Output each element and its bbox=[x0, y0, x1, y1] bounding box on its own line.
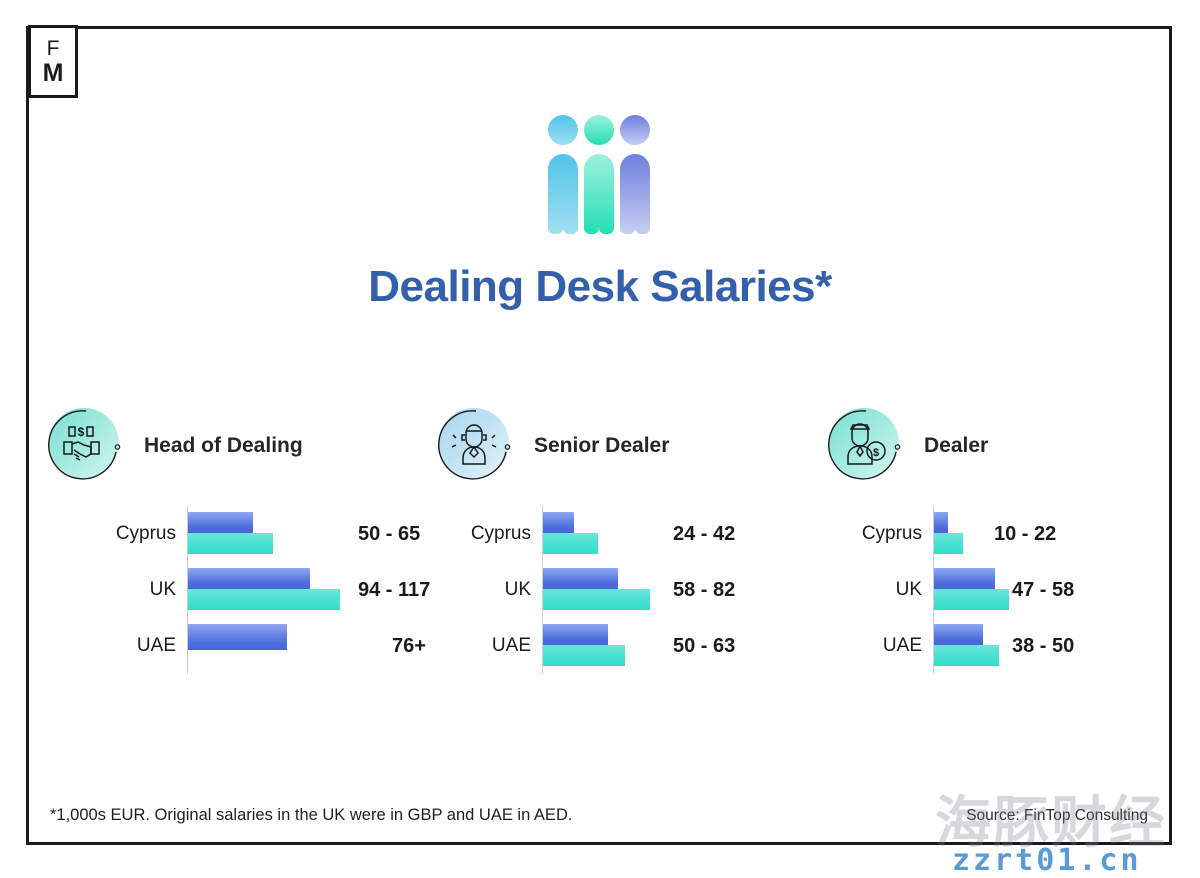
bar-chart-head-of-dealing: Cyprus 50 - 65 UK 94 - 117 UAE bbox=[46, 506, 436, 674]
row-bars bbox=[188, 512, 358, 556]
row-bars bbox=[188, 568, 358, 612]
row-label: UK bbox=[436, 579, 543, 601]
source-credit: Source: FinTop Consulting bbox=[966, 807, 1148, 825]
chart-row: UAE 50 - 63 bbox=[436, 618, 826, 674]
chart-row: UK 94 - 117 bbox=[46, 562, 436, 618]
svg-text:$: $ bbox=[873, 447, 879, 459]
bar-high bbox=[543, 645, 625, 666]
panel-head-of-dealing: $ Head of Dealing Cyprus 50 - 65 bbox=[46, 398, 436, 674]
logo-letter-m: M bbox=[43, 61, 64, 86]
bar-low bbox=[188, 512, 253, 533]
row-label: UAE bbox=[46, 635, 188, 657]
panel-header: $ Dealer bbox=[826, 398, 1154, 494]
row-range-label: 50 - 63 bbox=[673, 635, 735, 658]
bar-low bbox=[543, 624, 608, 645]
bar-low bbox=[543, 512, 574, 533]
row-label: UAE bbox=[436, 635, 543, 657]
chart-row: Cyprus 10 - 22 bbox=[826, 506, 1154, 562]
row-bars bbox=[543, 512, 673, 556]
bar-chart-senior-dealer: Cyprus 24 - 42 UK 58 - 82 UAE bbox=[436, 506, 826, 674]
row-label: UAE bbox=[826, 635, 934, 657]
chart-row: UK 47 - 58 bbox=[826, 562, 1154, 618]
bar-low bbox=[188, 624, 287, 650]
row-bars bbox=[934, 624, 994, 668]
footnote: *1,000s EUR. Original salaries in the UK… bbox=[50, 806, 572, 825]
panel-header: Senior Dealer bbox=[436, 398, 826, 494]
bar-high bbox=[934, 645, 999, 666]
row-bars bbox=[934, 512, 994, 556]
row-label: Cyprus bbox=[46, 523, 188, 545]
row-range-label: 38 - 50 bbox=[1012, 635, 1074, 658]
bar-high bbox=[188, 533, 273, 554]
bar-low bbox=[188, 568, 310, 589]
row-range-label: 76+ bbox=[392, 635, 426, 658]
panel-title: Dealer bbox=[924, 434, 988, 458]
row-label: UK bbox=[46, 579, 188, 601]
panel-header: $ Head of Dealing bbox=[46, 398, 436, 494]
watermark-url: zzrt01.cn bbox=[952, 843, 1142, 878]
bar-low bbox=[934, 512, 948, 533]
salary-panels: $ Head of Dealing Cyprus 50 - 65 bbox=[46, 398, 1154, 674]
chart-row: UAE 38 - 50 bbox=[826, 618, 1154, 674]
panel-dealer: $ Dealer Cyprus 10 - 22 UK bbox=[826, 398, 1154, 674]
row-label: Cyprus bbox=[826, 523, 934, 545]
fm-logo: F M bbox=[28, 25, 78, 98]
row-range-label: 47 - 58 bbox=[1012, 579, 1074, 602]
row-bars bbox=[543, 624, 673, 668]
svg-text:$: $ bbox=[78, 425, 85, 439]
panel-title: Head of Dealing bbox=[144, 434, 303, 458]
bar-low bbox=[934, 568, 995, 589]
panel-title: Senior Dealer bbox=[534, 434, 669, 458]
row-range-label: 50 - 65 bbox=[358, 523, 420, 546]
row-range-label: 10 - 22 bbox=[994, 523, 1056, 546]
row-bars bbox=[543, 568, 673, 612]
chart-row: Cyprus 24 - 42 bbox=[436, 506, 826, 562]
chart-row: Cyprus 50 - 65 bbox=[46, 506, 436, 562]
handshake-money-icon: $ bbox=[46, 405, 128, 487]
row-range-label: 94 - 117 bbox=[358, 579, 430, 602]
bar-high bbox=[543, 533, 598, 554]
dealer-money-icon: $ bbox=[826, 405, 908, 487]
row-label: Cyprus bbox=[436, 523, 543, 545]
chart-row: UK 58 - 82 bbox=[436, 562, 826, 618]
page-title: Dealing Desk Salaries* bbox=[0, 262, 1200, 312]
chart-row: UAE 76+ bbox=[46, 618, 436, 674]
panel-senior-dealer: Senior Dealer Cyprus 24 - 42 UK 58 - 82 bbox=[436, 398, 826, 674]
logo-letter-f: F bbox=[47, 38, 60, 59]
bar-high bbox=[543, 589, 650, 610]
row-label: UK bbox=[826, 579, 934, 601]
bar-high bbox=[188, 589, 340, 610]
row-bars bbox=[934, 568, 994, 612]
three-people-icon bbox=[0, 113, 1200, 248]
row-bars bbox=[188, 624, 358, 668]
bar-chart-dealer: Cyprus 10 - 22 UK 47 - 58 UAE bbox=[826, 506, 1154, 674]
row-range-label: 24 - 42 bbox=[673, 523, 735, 546]
row-range-label: 58 - 82 bbox=[673, 579, 735, 602]
bar-high bbox=[934, 589, 1009, 610]
bar-high bbox=[934, 533, 963, 554]
bar-low bbox=[543, 568, 618, 589]
headset-agent-icon bbox=[436, 405, 518, 487]
bar-low bbox=[934, 624, 983, 645]
